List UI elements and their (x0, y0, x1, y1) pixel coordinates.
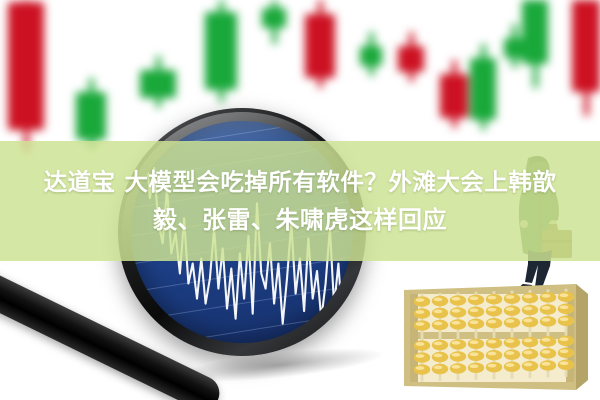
candle-body (504, 38, 524, 58)
candle-body (8, 2, 44, 130)
abacus-bead-highlight (470, 352, 479, 356)
abacus-bead-highlight (488, 364, 497, 368)
abacus-bead-highlight (470, 340, 479, 344)
candle-body (205, 12, 237, 90)
abacus-bead-highlight (560, 337, 569, 341)
abacus-bead-highlight (488, 308, 497, 312)
abacus-bead-highlight (524, 307, 533, 311)
candle-body (440, 74, 468, 118)
abacus-bead-highlight (542, 306, 551, 310)
abacus-bead-highlight (470, 308, 479, 312)
candle-body (572, 0, 600, 92)
abacus-bead-highlight (416, 354, 425, 358)
abacus-bead-highlight (416, 322, 425, 326)
headline-line-1: 达道宝 大模型会吃掉所有软件？外滩大会上韩歆 (44, 165, 557, 199)
abacus-bead-highlight (452, 309, 461, 313)
abacus-bead-highlight (452, 341, 461, 345)
abacus-bead-highlight (506, 319, 515, 323)
abacus-bead-highlight (452, 297, 461, 301)
abacus-bead-highlight (524, 319, 533, 323)
abacus-bead-highlight (542, 318, 551, 322)
candle-body (76, 92, 106, 140)
promo-image: 股市 (0, 0, 600, 400)
abacus-bead-highlight (560, 361, 569, 365)
abacus-bead-highlight (560, 317, 569, 321)
abacus-bead-highlight (488, 296, 497, 300)
abacus-bead-highlight (452, 353, 461, 357)
abacus-bead-highlight (434, 342, 443, 346)
abacus-bead-highlight (416, 342, 425, 346)
abacus-bead-highlight (560, 349, 569, 353)
candle-body (360, 46, 382, 66)
abacus-bead-highlight (434, 354, 443, 358)
abacus-bead-highlight (488, 352, 497, 356)
abacus-bead-highlight (524, 351, 533, 355)
golden-abacus (398, 284, 594, 396)
abacus-bead-highlight (434, 310, 443, 314)
abacus-bead-highlight (452, 321, 461, 325)
abacus-bead-highlight (434, 366, 443, 370)
abacus-bead-highlight (542, 362, 551, 366)
candle-body (305, 14, 335, 78)
abacus-bead-highlight (560, 293, 569, 297)
abacus-bead-highlight (452, 365, 461, 369)
abacus-bead-highlight (542, 294, 551, 298)
candle-body (398, 46, 424, 72)
abacus-bead-highlight (434, 322, 443, 326)
abacus-bead-highlight (506, 295, 515, 299)
abacus-bead-highlight (506, 351, 515, 355)
abacus-bead-highlight (416, 366, 425, 370)
abacus-bead-highlight (470, 364, 479, 368)
abacus-bead-highlight (524, 339, 533, 343)
abacus-bead-highlight (524, 363, 533, 367)
headline-line-2: 毅、张雷、朱啸虎这样回应 (153, 203, 447, 237)
candle-body (470, 58, 496, 120)
abacus-bead-highlight (542, 338, 551, 342)
abacus-bead-highlight (506, 339, 515, 343)
abacus-bead-highlight (488, 320, 497, 324)
abacus-bead-highlight (560, 305, 569, 309)
candle-body (140, 70, 176, 98)
headline-block: 达道宝 大模型会吃掉所有软件？外滩大会上韩歆 毅、张雷、朱啸虎这样回应 (0, 141, 600, 261)
abacus-bead-highlight (542, 350, 551, 354)
candle-body (522, 0, 548, 64)
abacus-bead-highlight (470, 296, 479, 300)
abacus-bead-highlight (434, 298, 443, 302)
abacus-bead-highlight (524, 295, 533, 299)
abacus-bead-highlight (506, 307, 515, 311)
abacus-bead-highlight (416, 310, 425, 314)
abacus-bead-highlight (470, 320, 479, 324)
abacus-bead-highlight (506, 363, 515, 367)
abacus-bead-highlight (488, 340, 497, 344)
abacus-bead-highlight (416, 298, 425, 302)
candle-body (262, 8, 286, 28)
